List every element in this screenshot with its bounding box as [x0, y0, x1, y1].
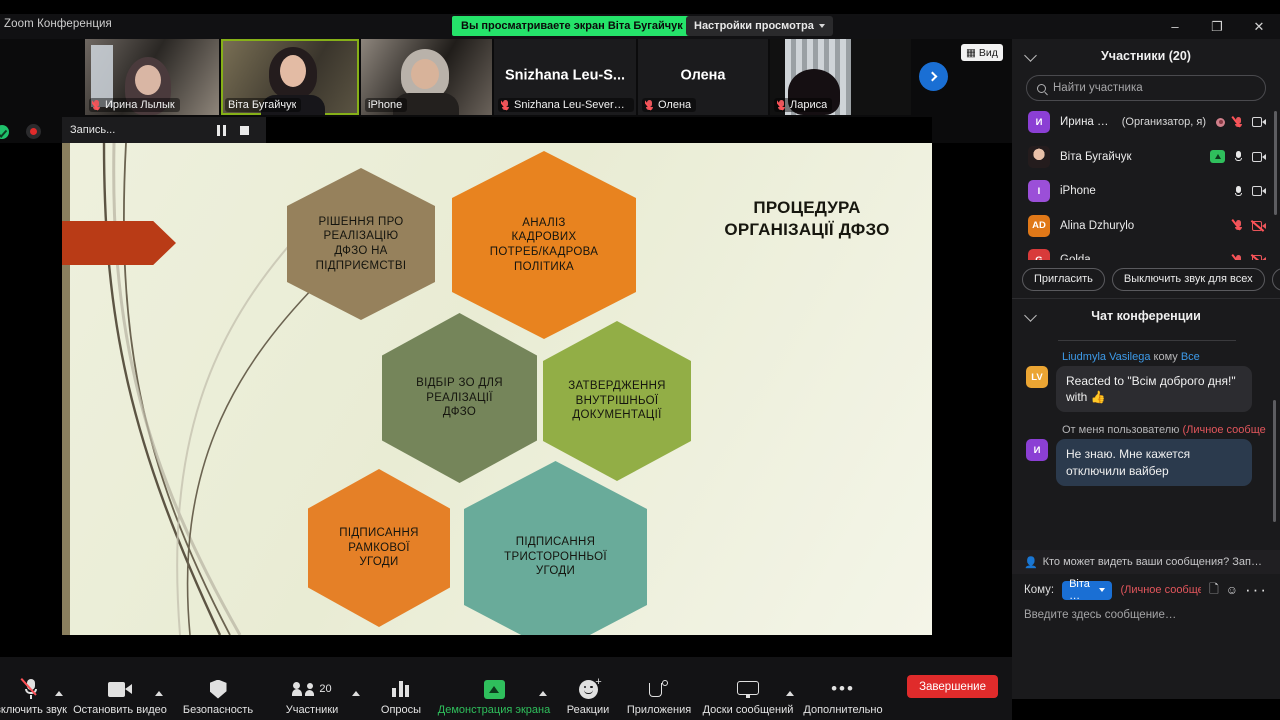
participants-count-badge: 20 — [319, 683, 331, 695]
presentation-slide: РІШЕННЯ ПРОРЕАЛІЗАЦІЮДФЗО НАПІДПРИЄМСТВІ… — [62, 143, 932, 635]
chevron-down-icon — [1099, 588, 1105, 592]
toolbar-mute-button[interactable]: включить звук — [0, 674, 77, 716]
camera-icon — [108, 674, 132, 704]
video-tile-irina[interactable]: Ирина Лылык — [85, 39, 219, 115]
toolbar-apps-label: Приложения — [627, 704, 691, 716]
close-button[interactable]: ✕ — [1238, 14, 1280, 39]
avatar-initials: LV — [1031, 372, 1042, 383]
chat-to-target: Все — [1181, 351, 1200, 363]
video-tile-name: Snizhana Leu-Severyn… — [514, 99, 629, 111]
video-tile-name-badge: Віта Бугайчук — [225, 98, 301, 112]
participant-name: Alina Dzhurylo — [1060, 220, 1134, 232]
avatar: И — [1028, 111, 1050, 133]
recording-label: Запись... — [70, 124, 115, 136]
participant-search-box[interactable]: Найти участника — [1026, 75, 1266, 101]
slide-red-arrow — [62, 221, 176, 265]
participant-row-iphone[interactable]: I iPhone — [1012, 174, 1280, 209]
video-tile-vita[interactable]: Віта Бугайчук — [221, 39, 359, 115]
apps-icon — [649, 674, 669, 704]
mic-icon[interactable] — [1234, 186, 1243, 197]
video-tile-name-badge: iPhone — [365, 98, 407, 112]
participant-name: Віта Бугайчук — [1060, 151, 1132, 163]
chat-header[interactable]: Чат конференции — [1012, 299, 1280, 332]
avatar: И — [1026, 439, 1048, 461]
whiteboard-options-caret-icon[interactable] — [786, 691, 794, 696]
avatar-initials: И — [1036, 117, 1043, 128]
whiteboard-icon — [737, 674, 759, 704]
shield-icon — [210, 674, 227, 704]
recording-controls — [200, 117, 266, 143]
mic-muted-icon[interactable] — [1234, 255, 1243, 260]
stop-recording-button[interactable] — [240, 126, 249, 135]
maximize-button[interactable]: ❐ — [1196, 14, 1238, 39]
chat-scrollbar[interactable] — [1273, 400, 1276, 522]
chat-message-meta: Liudmyla Vasilega кому Все — [1062, 351, 1266, 363]
meeting-toolbar: включить звук Остановить видео Безопасно… — [0, 657, 1012, 720]
hexagon-framework-agreement-text: ПІДПИСАННЯРАМКОВОЇУГОДИ — [333, 526, 424, 570]
avatar: LV — [1026, 366, 1048, 388]
participant-row-alina[interactable]: AD Alina Dzhurylo — [1012, 209, 1280, 244]
toolbar-share-screen-button[interactable]: Демонстрация экрана — [448, 674, 540, 716]
mic-muted-icon — [24, 674, 38, 704]
chevron-down-icon[interactable] — [1024, 49, 1037, 62]
participants-scrollbar[interactable] — [1274, 111, 1277, 215]
toolbar-security-label: Безопасность — [183, 704, 253, 716]
participants-header[interactable]: Участники (20) — [1012, 39, 1280, 72]
avatar: I — [1028, 180, 1050, 202]
file-attach-icon[interactable]: 🗋 — [1209, 580, 1219, 601]
end-meeting-label: Завершение — [919, 681, 986, 693]
chat-bubble: Reacted to "Всім доброго дня!" with 👍 — [1056, 366, 1252, 412]
shared-screen-area: Запись... РІШЕННЯ ПРОРЕАЛІЗАЦІЮДФЗО НАПІ… — [62, 117, 932, 635]
toolbar-share-screen-label: Демонстрация экрана — [438, 704, 550, 716]
hexagon-approval: ЗАТВЕРДЖЕННЯВНУТРІШНЬОЇДОКУМЕНТАЦІЇ — [543, 321, 691, 481]
screen-share-banner: Вы просматриваете экран Віта Бугайчук — [452, 16, 692, 36]
video-tile-name-badge: Snizhana Leu-Severyn… — [498, 98, 634, 112]
toolbar-polls-button[interactable]: Опросы — [355, 674, 447, 716]
window-title: Zoom Конференция — [4, 18, 112, 30]
host-indicator-icon — [1216, 118, 1225, 127]
recording-status-bar: Запись... — [62, 117, 200, 143]
hexagon-decision-text: РІШЕННЯ ПРОРЕАЛІЗАЦІЮДФЗО НАПІДПРИЄМСТВІ — [310, 215, 413, 274]
chat-top-separator — [1058, 340, 1236, 341]
participant-row-irina[interactable]: И Ирина Лы… (Организатор, я) — [1012, 105, 1280, 140]
chat-recipient-value: Віта … — [1069, 578, 1094, 602]
video-tile-display-name: Олена — [638, 67, 768, 83]
view-settings-label: Настройки просмотра — [694, 20, 814, 32]
invite-button[interactable]: Пригласить — [1022, 268, 1105, 291]
chevron-down-icon[interactable] — [1024, 309, 1037, 322]
avatar: G — [1028, 249, 1050, 260]
camera-icon[interactable] — [1252, 186, 1266, 196]
minimize-button[interactable]: – — [1154, 14, 1196, 39]
chat-recipient-dropdown[interactable]: Віта … — [1062, 581, 1112, 600]
chat-message: И Не знаю. Мне кажется отключили вайбер — [1026, 439, 1266, 485]
mic-icon[interactable] — [1234, 151, 1243, 162]
video-tile-iphone[interactable]: iPhone — [361, 39, 492, 115]
chat-message-meta: От меня пользователю (Личное сообщен — [1062, 424, 1266, 436]
video-tile-name: Лариса — [790, 99, 827, 111]
toolbar-more-button[interactable]: ••• Дополнительно — [797, 674, 889, 716]
video-tile-name: Віта Бугайчук — [228, 99, 296, 111]
participant-name: iPhone — [1060, 185, 1096, 197]
participants-more-button[interactable]: ··· — [1272, 268, 1280, 291]
more-icon: ••• — [831, 674, 855, 704]
participant-icons — [1234, 186, 1266, 197]
mic-muted-icon — [645, 100, 654, 111]
toolbar-whiteboard-button[interactable]: Доски сообщений — [702, 674, 794, 716]
toolbar-whiteboard-label: Доски сообщений — [703, 704, 794, 716]
hexagon-hr-analysis: АНАЛІЗКАДРОВИХПОТРЕБ/КАДРОВАПОЛІТИКА — [452, 151, 636, 339]
participant-icons — [1234, 255, 1266, 260]
toolbar-participants-button[interactable]: 20 Участники — [266, 674, 358, 716]
toolbar-security-button[interactable]: Безопасность — [172, 674, 264, 716]
share-screen-icon — [484, 674, 505, 704]
view-settings-button[interactable]: Настройки просмотра — [686, 16, 833, 36]
avatar-initials: G — [1035, 255, 1042, 260]
participant-role: (Организатор, я) — [1122, 116, 1206, 128]
screen-share-active-icon — [1210, 150, 1225, 163]
video-tile-olena[interactable]: Олена Олена — [638, 39, 768, 115]
chat-more-icon[interactable]: ··· — [1245, 585, 1268, 595]
slide-title: ПРОЦЕДУРА ОРГАНІЗАЦІЇ ДФЗО — [687, 197, 927, 241]
video-tile-name: Олена — [658, 99, 691, 111]
mic-muted-icon — [92, 100, 101, 111]
privacy-person-icon: 👤 — [1024, 556, 1037, 569]
avatar: AD — [1028, 215, 1050, 237]
mic-muted-icon — [777, 100, 786, 111]
screen-share-banner-text: Вы просматриваете экран Віта Бугайчук — [461, 20, 683, 32]
search-icon — [1037, 84, 1046, 93]
video-tile-name-badge: Ирина Лылык — [89, 98, 180, 112]
avatar — [1028, 146, 1050, 168]
chat-author: Liudmyla Vasilega — [1062, 351, 1150, 363]
recording-indicator-icon[interactable] — [26, 124, 41, 139]
avatar-photo — [1028, 146, 1050, 168]
right-side-panel: Участники (20) Найти участника И Ирина Л… — [1012, 39, 1280, 699]
camera-icon[interactable] — [1252, 152, 1266, 162]
pause-recording-button[interactable] — [217, 125, 226, 136]
view-layout-label: Вид — [979, 47, 998, 59]
end-meeting-button[interactable]: Завершение — [907, 675, 998, 698]
avatar-initials: И — [1034, 445, 1041, 456]
toolbar-more-label: Дополнительно — [803, 704, 882, 716]
chat-privacy-notice[interactable]: 👤 Кто может видеть ваши сообщения? Запис… — [1012, 550, 1280, 574]
video-tile-name-badge: Лариса — [774, 98, 832, 112]
chat-to-field-label: Кому: — [1024, 584, 1054, 596]
video-tile-larisa[interactable]: Лариса — [770, 39, 911, 115]
toolbar-mute-label: включить звук — [0, 704, 67, 716]
mic-options-caret-icon[interactable] — [55, 691, 63, 696]
chat-input-icons: 🗋 ☺ ··· — [1209, 580, 1268, 601]
participant-row-vita[interactable]: Віта Бугайчук — [1012, 140, 1280, 175]
view-layout-button[interactable]: ▦ Вид — [961, 44, 1003, 61]
window-controls: – ❐ ✕ — [1154, 14, 1280, 39]
emoji-icon[interactable]: ☺ — [1226, 583, 1238, 597]
toolbar-polls-label: Опросы — [381, 704, 421, 716]
reactions-icon: + — [579, 674, 598, 704]
participant-row-golda[interactable]: G Golda — [1012, 243, 1280, 260]
avatar-initials: AD — [1032, 220, 1046, 231]
chat-header-label: Чат конференции — [1091, 309, 1201, 323]
video-tile-name: Ирина Лылык — [105, 99, 175, 111]
chat-private-label: (Личное сообщен — [1182, 424, 1266, 436]
chat-message: LV Reacted to "Всім доброго дня!" with 👍 — [1026, 366, 1266, 412]
chevron-right-icon — [928, 72, 938, 82]
video-options-caret-icon[interactable] — [155, 691, 163, 696]
polls-icon — [392, 674, 410, 704]
toolbar-apps-button[interactable]: Приложения — [613, 674, 705, 716]
hexagon-selection: ВІДБІР ЗО ДЛЯРЕАЛІЗАЦІЇДФЗО — [382, 313, 537, 483]
hexagon-hr-analysis-text: АНАЛІЗКАДРОВИХПОТРЕБ/КАДРОВАПОЛІТИКА — [484, 216, 604, 275]
video-tile-snizhana[interactable]: Snizhana Leu-S... Snizhana Leu-Severyn… — [494, 39, 636, 115]
participant-name: Ирина Лы… — [1060, 116, 1112, 128]
grid-icon: ▦ — [966, 47, 976, 59]
participants-list[interactable]: И Ирина Лы… (Организатор, я) Віта Бугайч… — [1012, 105, 1280, 260]
toolbar-video-label: Остановить видео — [73, 704, 167, 716]
slide-title-line1: ПРОЦЕДУРА — [753, 198, 860, 217]
chat-bubble: Не знаю. Мне кажется отключили вайбер — [1056, 439, 1252, 485]
chat-author: От меня пользователю — [1062, 424, 1179, 436]
participant-name: Golda — [1060, 254, 1091, 260]
participants-icon: 20 — [292, 674, 331, 704]
participants-action-bar: Пригласить Выключить звук для всех ··· — [1012, 260, 1280, 298]
video-tile-name: iPhone — [368, 99, 402, 111]
mic-muted-icon[interactable] — [1234, 220, 1243, 231]
mute-all-button[interactable]: Выключить звук для всех — [1112, 268, 1265, 291]
filmstrip-next-button[interactable] — [919, 62, 948, 91]
mic-muted-icon[interactable] — [1234, 117, 1243, 128]
chat-input[interactable]: Введите здесь сообщение… — [1012, 606, 1280, 621]
slide-left-accent-bar — [62, 143, 70, 635]
mic-muted-icon — [501, 100, 510, 111]
hexagon-tripartite-agreement: ПІДПИСАННЯТРИСТОРОННЬОЇУГОДИ — [464, 461, 647, 635]
chat-to-label: кому — [1154, 351, 1178, 363]
video-tile-display-name: Snizhana Leu-S... — [494, 67, 636, 83]
chat-private-indicator: (Личное сообщение — [1120, 584, 1201, 596]
hexagon-approval-text: ЗАТВЕРДЖЕННЯВНУТРІШНЬОЇДОКУМЕНТАЦІЇ — [562, 379, 672, 423]
participants-header-label: Участники (20) — [1101, 49, 1191, 63]
avatar-initials: I — [1038, 186, 1041, 197]
slide-title-line2: ОРГАНІЗАЦІЇ ДФЗО — [724, 220, 889, 239]
participant-search-placeholder: Найти участника — [1053, 82, 1143, 94]
chevron-down-icon — [819, 24, 825, 28]
hexagon-tripartite-agreement-text: ПІДПИСАННЯТРИСТОРОННЬОЇУГОДИ — [498, 535, 613, 579]
zoom-meeting-window: Zoom Конференция Вы просматриваете экран… — [0, 0, 1280, 720]
chat-privacy-notice-text: Кто может видеть ваши сообщения? Запись … — [1043, 556, 1268, 568]
participant-icons — [1234, 220, 1266, 231]
participant-icons — [1210, 150, 1266, 163]
chat-recipient-bar: Кому: Віта … (Личное сообщение 🗋 ☺ ··· — [1012, 574, 1280, 606]
toolbar-reactions-label: Реакции — [567, 704, 610, 716]
toolbar-participants-label: Участники — [286, 704, 339, 716]
hexagon-selection-text: ВІДБІР ЗО ДЛЯРЕАЛІЗАЦІЇДФЗО — [410, 376, 509, 420]
toolbar-video-button[interactable]: Остановить видео — [74, 674, 166, 716]
participant-icons — [1216, 117, 1266, 128]
camera-muted-icon[interactable] — [1252, 221, 1266, 231]
video-tile-name-badge: Олена — [642, 98, 696, 112]
chat-messages[interactable]: Liudmyla Vasilega кому Все LV Reacted to… — [1012, 332, 1280, 550]
camera-muted-icon[interactable] — [1252, 255, 1266, 260]
camera-icon[interactable] — [1252, 117, 1266, 127]
